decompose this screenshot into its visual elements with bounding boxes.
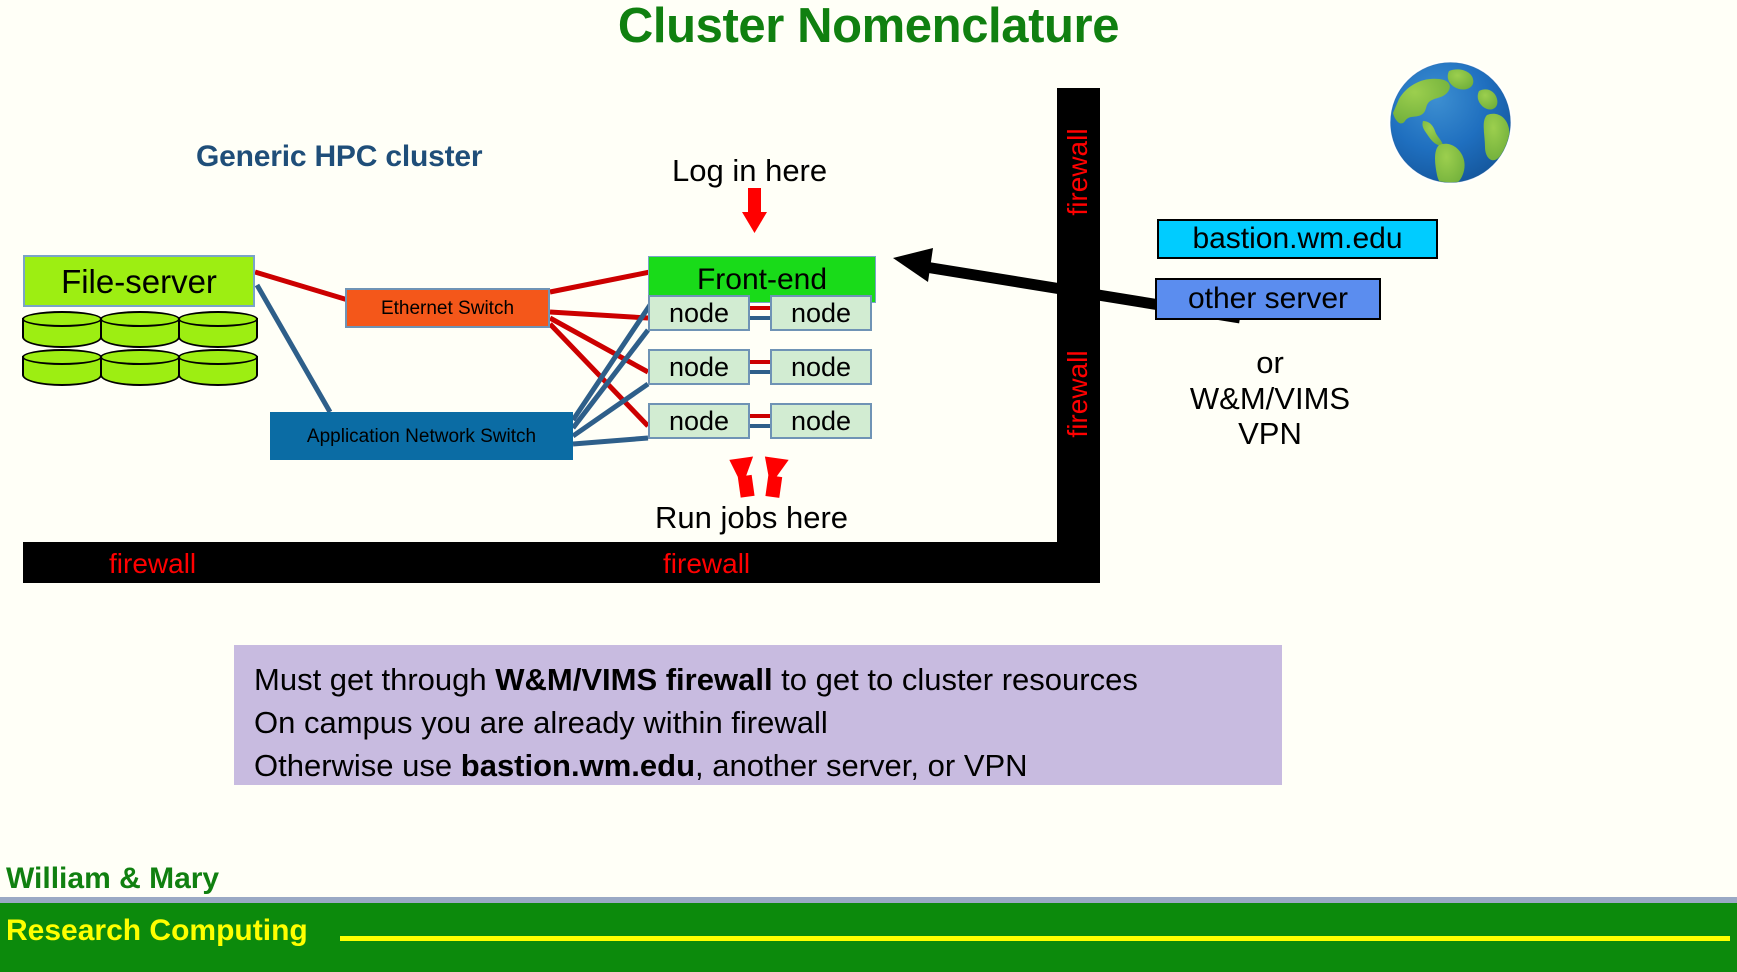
summary-line3-suffix: , another server, or VPN (695, 748, 1028, 783)
node-box[interactable]: node (770, 403, 872, 439)
node-label: node (791, 354, 851, 381)
page-title: Cluster Nomenclature (0, 0, 1737, 54)
firewall-label-vertical-bottom: firewall (1064, 339, 1092, 449)
runjobs-arrow-left-icon (729, 457, 758, 499)
node-label: node (669, 300, 729, 327)
summary-line1-prefix: Must get through (254, 662, 495, 697)
footer-rule (340, 936, 1730, 941)
ethernet-switch-box[interactable]: Ethernet Switch (345, 288, 550, 328)
disk-icon (178, 318, 258, 348)
footer-divider-bottom (0, 965, 1737, 972)
or-label: or (1155, 345, 1385, 381)
node-label: node (791, 408, 851, 435)
bastion-server-label: bastion.wm.edu (1192, 224, 1402, 254)
disk-icon (178, 356, 258, 386)
application-network-switch-box[interactable]: Application Network Switch (270, 412, 573, 460)
node-box[interactable]: node (648, 403, 750, 439)
node-box[interactable]: node (648, 349, 750, 385)
other-server-box[interactable]: other server (1155, 278, 1381, 320)
login-arrow-icon (742, 188, 767, 233)
globe-icon (1383, 55, 1518, 190)
summary-line1-emphasis: W&M/VIMS firewall (495, 662, 772, 697)
disk-icon (100, 356, 180, 386)
disk-icon (22, 356, 102, 386)
fileserver-label: File-server (61, 265, 217, 298)
node-box[interactable]: node (770, 295, 872, 331)
runjobs-arrow-right-icon (759, 457, 788, 499)
other-server-label: other server (1188, 284, 1348, 314)
ethernet-switch-label: Ethernet Switch (381, 299, 514, 318)
run-jobs-here-label: Run jobs here (655, 500, 848, 536)
application-network-switch-label: Application Network Switch (307, 427, 536, 446)
footer-organization: William & Mary (6, 862, 219, 896)
node-label: node (669, 408, 729, 435)
disk-array (22, 308, 258, 374)
footer-department: Research Computing (6, 914, 308, 948)
node-box[interactable]: node (770, 349, 872, 385)
summary-line-1: Must get through W&M/VIMS firewall to ge… (254, 659, 1262, 702)
summary-line3-emphasis: bastion.wm.edu (461, 748, 695, 783)
summary-line1-suffix: to get to cluster resources (773, 662, 1138, 697)
section-label-generic-hpc-cluster: Generic HPC cluster (196, 140, 482, 174)
vpn-alternative-text: or W&M/VIMS VPN (1155, 345, 1385, 452)
summary-callout-box: Must get through W&M/VIMS firewall to ge… (234, 645, 1282, 785)
disk-icon (100, 318, 180, 348)
summary-line-2: On campus you are already within firewal… (254, 702, 1262, 745)
firewall-label-horizontal-right: firewall (663, 550, 750, 578)
firewall-bar-horizontal: firewall firewall (23, 542, 1100, 583)
vpn-line2-label: VPN (1155, 416, 1385, 452)
summary-line-3: Otherwise use bastion.wm.edu, another se… (254, 745, 1262, 788)
disk-icon (22, 318, 102, 348)
node-label: node (669, 354, 729, 381)
bastion-server-box[interactable]: bastion.wm.edu (1157, 219, 1438, 259)
firewall-label-horizontal-left: firewall (109, 550, 196, 578)
vpn-line1-label: W&M/VIMS (1155, 381, 1385, 417)
summary-line3-prefix: Otherwise use (254, 748, 461, 783)
firewall-label-vertical-top: firewall (1064, 117, 1092, 227)
slide-canvas: Cluster Nomenclature Generic HPC cluster (0, 0, 1737, 972)
fileserver-box[interactable]: File-server (23, 255, 255, 307)
frontend-label: Front-end (697, 265, 827, 295)
login-here-label: Log in here (672, 153, 827, 189)
node-box[interactable]: node (648, 295, 750, 331)
node-label: node (791, 300, 851, 327)
firewall-bar-vertical: firewall firewall (1057, 88, 1100, 553)
